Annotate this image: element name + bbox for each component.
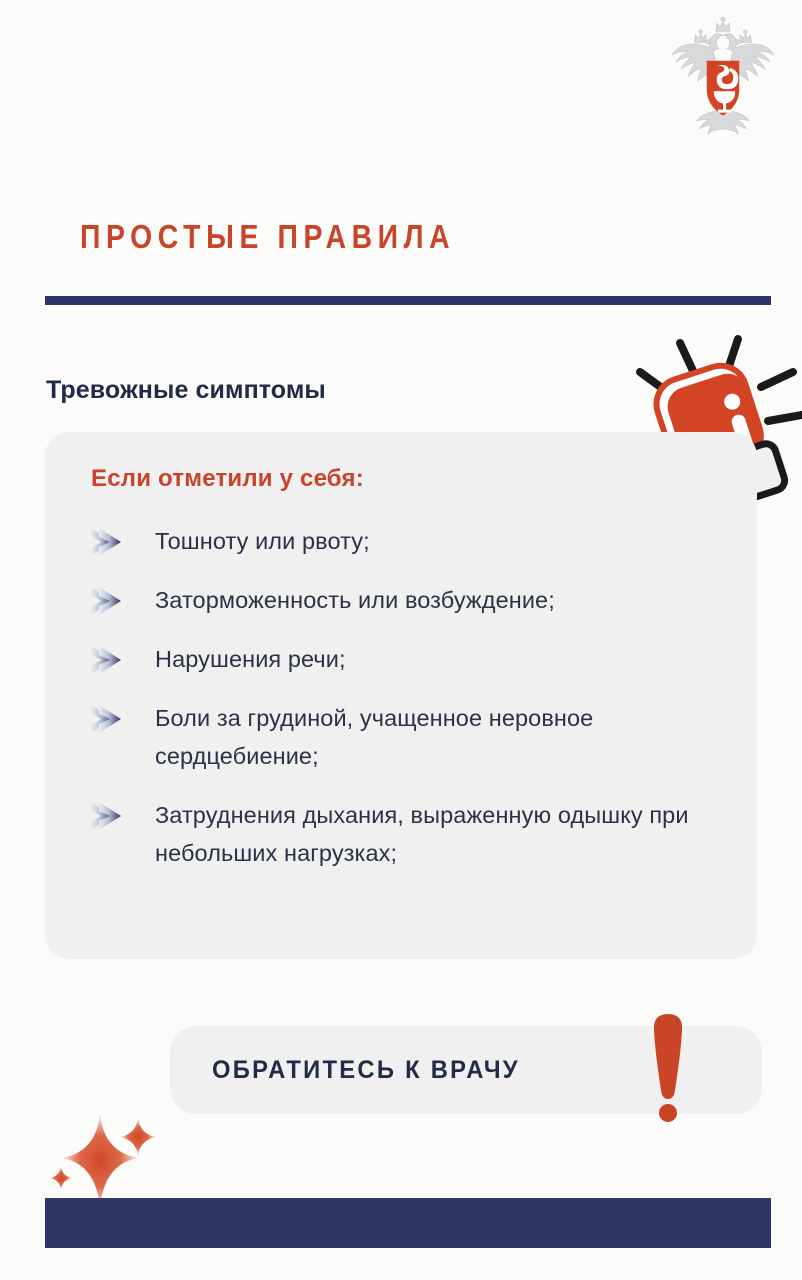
symptom-card: Если отметили у себя: [45,432,757,959]
list-item-text: Боли за грудиной, учащенное неровное сер… [155,705,593,769]
chevron-right-icon [89,645,131,675]
list-item: Тошноту или рвоту; [87,522,737,560]
section-heading: Тревожные симптомы [46,376,326,405]
poster-root: ПРОСТЫЕ ПРАВИЛА Тревожные симптомы [0,0,802,1280]
page-title: ПРОСТЫЕ ПРАВИЛА [80,218,455,256]
card-heading: Если отметили у себя: [91,465,364,493]
exclamation-mark-icon [638,1008,698,1126]
list-item-text: Нарушения речи; [155,646,346,672]
list-item: Заторможенность или возбуждение; [87,581,737,619]
list-item-text: Тошноту или рвоту; [155,528,370,554]
list-item: Нарушения речи; [87,640,737,678]
chevron-right-icon [89,586,131,616]
title-divider [45,296,771,305]
chevron-right-icon [89,801,131,831]
cta-label: ОБРАТИТЕСЬ К ВРАЧУ [212,1056,520,1085]
symptom-list: Тошноту или рвоту; [87,522,737,872]
ministry-of-health-emblem-icon [662,14,784,136]
footer-navy-bar [45,1198,771,1248]
list-item: Боли за грудиной, учащенное неровное сер… [87,699,737,775]
chevron-right-icon [89,704,131,734]
list-item-text: Заторможенность или возбуждение; [155,587,555,613]
chevron-right-icon [89,527,131,557]
list-item: Затруднения дыхания, выраженную одышку п… [87,796,737,872]
list-item-text: Затруднения дыхания, выраженную одышку п… [155,802,689,866]
cta-container: ОБРАТИТЕСЬ К ВРАЧУ [170,1026,762,1114]
